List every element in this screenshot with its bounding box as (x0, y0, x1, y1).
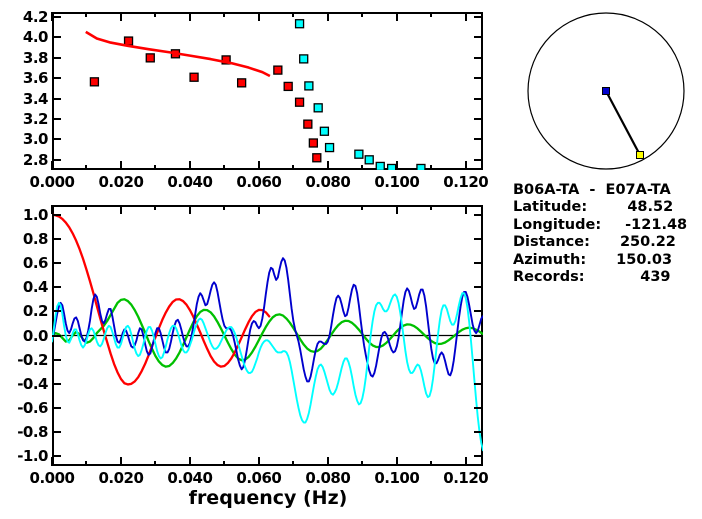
metadata-label: Distance: (513, 234, 590, 250)
azimuth-circle-diagram (500, 0, 702, 185)
x-tick-mark (51, 205, 53, 214)
data-point-marker (238, 79, 246, 87)
x-tick-mark (396, 12, 398, 21)
x-tick-mark (327, 205, 329, 214)
x-tick-mark (258, 161, 260, 170)
data-point-marker (300, 55, 308, 63)
x-tick-mark (465, 161, 467, 170)
x-tick-label: 0.100 (374, 173, 419, 191)
y-tick-mark (474, 359, 483, 361)
y-tick-mark (474, 407, 483, 409)
y-tick-mark (474, 431, 483, 433)
x-tick-mark (465, 205, 467, 214)
x-tick-mark (51, 161, 53, 170)
data-point-marker (90, 78, 98, 86)
y-tick-label: 3.4 (2, 90, 48, 108)
x-minor-tick (292, 205, 294, 210)
x-minor-tick (292, 165, 294, 170)
y-tick-mark (52, 262, 61, 264)
y-tick-mark (52, 36, 61, 38)
x-tick-label: 0.040 (167, 173, 212, 191)
station-b-marker (637, 152, 644, 159)
station-metadata-row: Distance:250.22 (513, 234, 676, 251)
station-metadata-row: Latitude:48.52 (513, 199, 673, 216)
y-tick-mark (474, 310, 483, 312)
x-tick-label: 0.120 (443, 173, 488, 191)
data-point-marker (284, 82, 292, 90)
y-tick-mark (52, 98, 61, 100)
x-minor-tick (154, 12, 156, 17)
x-tick-label: 0.100 (374, 469, 419, 487)
y-tick-label: 3.2 (2, 110, 48, 128)
data-point-marker (314, 104, 322, 112)
x-tick-mark (51, 457, 53, 466)
x-tick-mark (120, 12, 122, 21)
x-tick-label: 0.080 (305, 173, 350, 191)
x-tick-mark (189, 457, 191, 466)
y-tick-mark (474, 77, 483, 79)
data-point-marker (365, 156, 373, 164)
station-metadata-row: Azimuth:150.03 (513, 252, 672, 269)
y-tick-mark (52, 238, 61, 240)
x-tick-mark (327, 12, 329, 21)
dispersion-plot-canvas (0, 0, 500, 195)
y-tick-mark (52, 118, 61, 120)
y-tick-mark (474, 36, 483, 38)
data-point-marker (320, 127, 328, 135)
x-tick-label: 0.060 (236, 173, 281, 191)
metadata-label: Latitude: (513, 199, 587, 215)
y-tick-mark (52, 77, 61, 79)
x-minor-tick (292, 461, 294, 466)
data-point-marker (305, 82, 313, 90)
data-point-marker (326, 144, 334, 152)
x-tick-mark (189, 161, 191, 170)
y-tick-mark (52, 310, 61, 312)
y-tick-label: -0.2 (2, 351, 48, 369)
x-tick-mark (258, 205, 260, 214)
x-minor-tick (223, 461, 225, 466)
y-tick-mark (52, 159, 61, 161)
y-tick-mark (52, 286, 61, 288)
y-tick-label: 0.8 (2, 230, 48, 248)
y-tick-mark (474, 159, 483, 161)
x-tick-label: 0.040 (167, 469, 212, 487)
y-tick-label: 3.6 (2, 69, 48, 87)
y-tick-label: 3.8 (2, 49, 48, 67)
x-tick-label: 0.020 (98, 173, 143, 191)
y-tick-label: -0.8 (2, 423, 48, 441)
x-tick-mark (327, 457, 329, 466)
y-tick-mark (52, 16, 61, 18)
x-tick-mark (327, 161, 329, 170)
reference-curve (86, 32, 270, 76)
y-tick-label: 4.0 (2, 28, 48, 46)
station-a-marker (603, 88, 610, 95)
data-point-marker (376, 162, 384, 170)
x-tick-label: 0.120 (443, 469, 488, 487)
data-point-marker (274, 66, 282, 74)
data-point-marker (296, 20, 304, 28)
x-minor-tick (430, 165, 432, 170)
metadata-label: Records: (513, 269, 585, 285)
y-tick-mark (52, 57, 61, 59)
y-tick-mark (474, 138, 483, 140)
y-tick-mark (474, 214, 483, 216)
x-tick-mark (396, 457, 398, 466)
data-point-marker (190, 73, 198, 81)
y-tick-mark (52, 431, 61, 433)
y-tick-mark (474, 286, 483, 288)
y-tick-mark (474, 238, 483, 240)
y-tick-mark (474, 262, 483, 264)
x-minor-tick (430, 205, 432, 210)
x-tick-label: 0.060 (236, 469, 281, 487)
x-tick-mark (396, 161, 398, 170)
metadata-label: Azimuth: (513, 252, 586, 268)
y-tick-mark (52, 359, 61, 361)
x-tick-label: 0.020 (98, 469, 143, 487)
y-tick-label: 0.4 (2, 278, 48, 296)
x-tick-mark (120, 457, 122, 466)
x-tick-mark (465, 457, 467, 466)
x-minor-tick (361, 165, 363, 170)
data-point-marker (296, 98, 304, 106)
y-tick-mark (52, 455, 61, 457)
station-metadata-row: Longitude:-121.48 (513, 217, 687, 234)
x-tick-label: 0.000 (30, 173, 75, 191)
x-minor-tick (223, 12, 225, 17)
x-minor-tick (223, 205, 225, 210)
spectrum-trace (52, 299, 483, 366)
x-tick-mark (189, 12, 191, 21)
x-tick-label: 0.080 (305, 469, 350, 487)
x-minor-tick (154, 205, 156, 210)
spectra-plot-panel: 0.0000.0200.0400.0600.0800.1000.120-1.0-… (0, 195, 500, 519)
x-minor-tick (430, 12, 432, 17)
x-tick-mark (120, 161, 122, 170)
station-pair-title: B06A-TA - E07A-TA (513, 182, 671, 199)
x-tick-mark (465, 12, 467, 21)
metadata-value: 439 (585, 269, 671, 286)
y-tick-label: -1.0 (2, 447, 48, 465)
x-minor-tick (154, 165, 156, 170)
x-minor-tick (223, 165, 225, 170)
x-tick-mark (189, 205, 191, 214)
x-minor-tick (292, 12, 294, 17)
metadata-value: 48.52 (587, 199, 673, 216)
y-tick-label: 1.0 (2, 206, 48, 224)
x-minor-tick (85, 205, 87, 210)
x-minor-tick (361, 12, 363, 17)
y-tick-mark (474, 16, 483, 18)
y-tick-mark (474, 118, 483, 120)
data-point-marker (304, 120, 312, 128)
y-tick-label: -0.6 (2, 399, 48, 417)
metadata-value: 150.03 (586, 252, 672, 269)
x-minor-tick (154, 461, 156, 466)
y-tick-mark (52, 214, 61, 216)
y-tick-mark (474, 383, 483, 385)
data-point-marker (388, 164, 396, 172)
x-tick-mark (120, 205, 122, 214)
y-tick-label: 0.0 (2, 327, 48, 345)
data-point-marker (417, 164, 425, 172)
spectrum-trace (52, 258, 483, 381)
x-minor-tick (361, 461, 363, 466)
x-minor-tick (361, 205, 363, 210)
metadata-label: Longitude: (513, 217, 601, 233)
x-tick-mark (396, 205, 398, 214)
x-minor-tick (430, 461, 432, 466)
x-tick-mark (258, 12, 260, 21)
data-point-marker (125, 37, 133, 45)
y-tick-mark (52, 383, 61, 385)
y-tick-label: -0.4 (2, 375, 48, 393)
y-tick-label: 4.2 (2, 8, 48, 26)
x-minor-tick (85, 461, 87, 466)
data-point-marker (146, 54, 154, 62)
data-point-marker (309, 139, 317, 147)
y-tick-mark (474, 335, 483, 337)
data-point-marker (355, 150, 363, 158)
y-tick-label: 2.8 (2, 151, 48, 169)
y-tick-mark (474, 57, 483, 59)
station-map-panel (500, 0, 702, 185)
metadata-value: -121.48 (601, 217, 687, 234)
data-point-marker (313, 154, 321, 162)
y-tick-label: 3.0 (2, 130, 48, 148)
y-tick-mark (474, 455, 483, 457)
y-tick-label: 0.2 (2, 302, 48, 320)
dispersion-plot-panel: 0.0000.0200.0400.0600.0800.1000.1202.83.… (0, 0, 500, 195)
station-metadata-panel: B06A-TA - E07A-TA Latitude:48.52Longitud… (500, 182, 702, 302)
y-tick-mark (52, 407, 61, 409)
x-minor-tick (85, 165, 87, 170)
station-path-line (606, 91, 640, 155)
y-tick-mark (474, 98, 483, 100)
y-tick-mark (52, 138, 61, 140)
metadata-value: 250.22 (590, 234, 676, 251)
y-tick-mark (52, 335, 61, 337)
x-minor-tick (85, 12, 87, 17)
x-tick-mark (258, 457, 260, 466)
station-metadata-row: Records:439 (513, 269, 671, 286)
x-axis-title: frequency (Hz) (189, 487, 348, 509)
y-tick-label: 0.6 (2, 254, 48, 272)
x-tick-label: 0.000 (30, 469, 75, 487)
